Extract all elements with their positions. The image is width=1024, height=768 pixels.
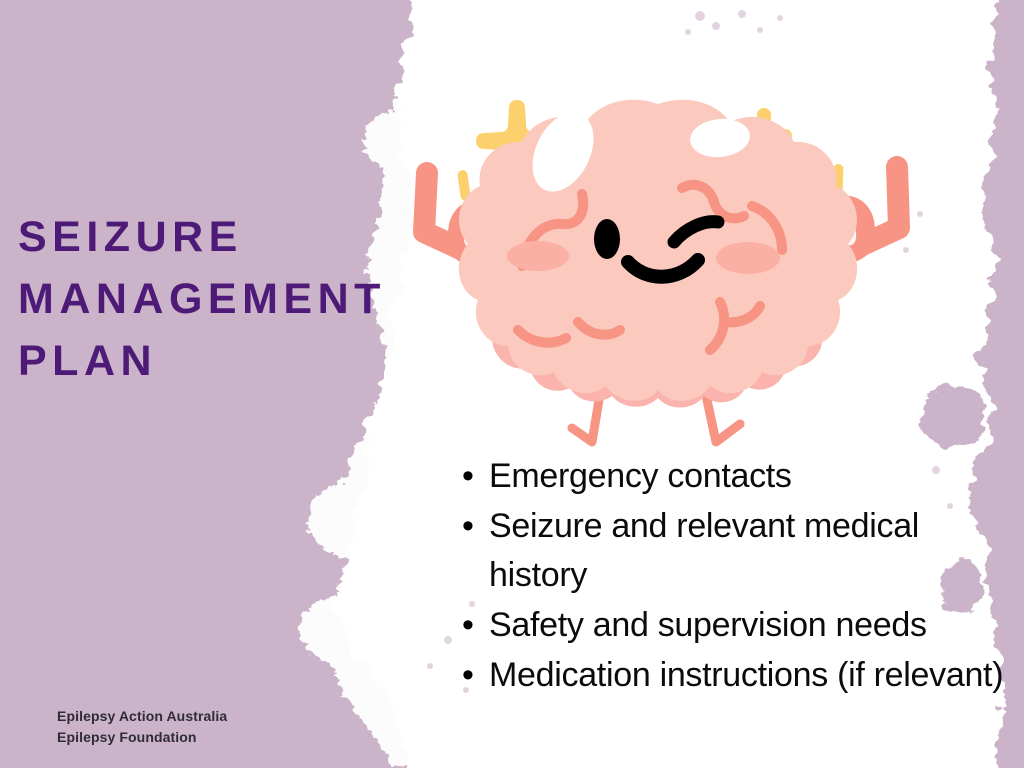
title-line-2: MANAGEMENT xyxy=(18,268,448,330)
page-title: SEIZURE MANAGEMENT PLAN xyxy=(18,206,448,392)
footer-line-1: Epilepsy Action Australia xyxy=(57,706,227,727)
list-item-label: Safety and supervision needs xyxy=(489,601,1007,650)
left-cheek-blush xyxy=(507,241,569,271)
left-eye xyxy=(594,219,620,259)
footer-line-2: Epilepsy Foundation xyxy=(57,727,227,748)
list-item-label: Seizure and relevant medical history xyxy=(489,502,1007,600)
bullet-marker-icon: • xyxy=(462,601,489,650)
bullet-marker-icon: • xyxy=(462,452,489,501)
plan-contents-list: • Emergency contacts • Seizure and relev… xyxy=(462,452,1007,701)
source-attribution: Epilepsy Action Australia Epilepsy Found… xyxy=(57,706,227,748)
flexing-brain-character-illustration xyxy=(410,70,910,490)
bullet-marker-icon: • xyxy=(462,651,489,700)
title-line-1: SEIZURE xyxy=(18,206,448,268)
list-item: • Emergency contacts xyxy=(462,452,1007,501)
slide-canvas: SEIZURE MANAGEMENT PLAN • Emergency cont… xyxy=(0,0,1024,768)
list-item: • Medication instructions (if relevant) xyxy=(462,651,1007,700)
list-item: • Safety and supervision needs xyxy=(462,601,1007,650)
title-line-3: PLAN xyxy=(18,330,448,392)
list-item-label: Medication instructions (if relevant) xyxy=(489,651,1007,700)
bullet-marker-icon: • xyxy=(462,502,489,551)
right-cheek-blush xyxy=(716,242,780,274)
list-item: • Seizure and relevant medical history xyxy=(462,502,1007,600)
list-item-label: Emergency contacts xyxy=(489,452,1007,501)
